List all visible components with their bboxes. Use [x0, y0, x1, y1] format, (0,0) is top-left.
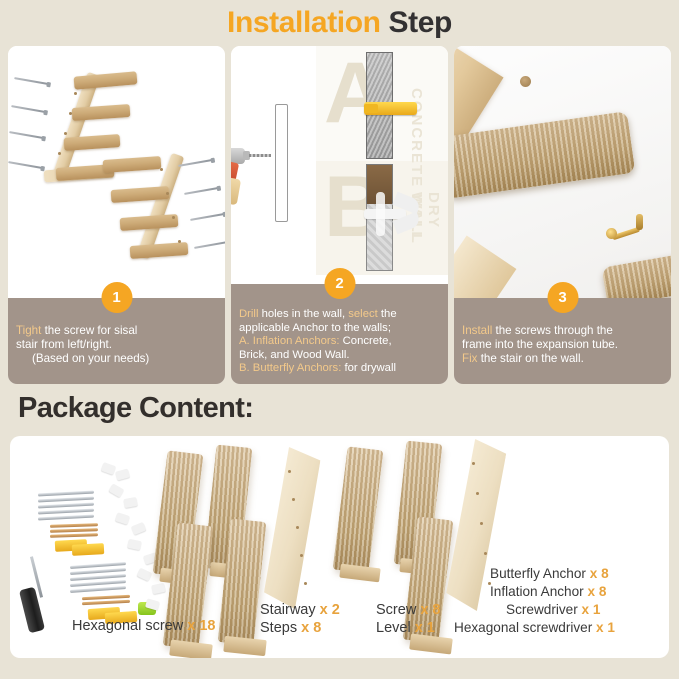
step-badge-1: 1	[101, 282, 132, 313]
step-1-highlight: Tight	[16, 324, 41, 337]
step-panel-2: A B CONCRETE WALL DRY WALL	[231, 46, 448, 384]
label-steps-qty: x 8	[301, 620, 321, 636]
label-level-name: Level	[376, 620, 411, 636]
label-butterfly-anchor: Butterfly Anchor x 8	[490, 566, 609, 581]
step-1-illustration	[8, 46, 225, 298]
step-2-l5-rest: for drywall	[341, 362, 396, 374]
label-level-qty: x 1	[415, 620, 435, 636]
label-level: Level x 1	[376, 620, 435, 636]
label-hexagonal-screwdriver: Hexagonal screwdriver x 1	[454, 620, 615, 635]
step-1-line2: stair from left/right.	[16, 338, 217, 352]
label-screwdriver-qty: x 1	[582, 602, 601, 617]
label-screw-qty: x 8	[420, 602, 440, 618]
step-1-caption: 1 Tight the screw for sisal stair from l…	[8, 298, 225, 384]
step-3-l3-rest: the stair on the wall.	[477, 352, 583, 365]
label-screwdriver-name: Screwdriver	[506, 602, 578, 617]
step-2-l3-rest: Concrete,	[339, 335, 391, 347]
title-part-installation: Installation	[227, 6, 381, 39]
label-inflation-anchor: Inflation Anchor x 8	[490, 584, 606, 599]
step-2-l1-mid: holes in the wall,	[258, 308, 348, 320]
step-2-hl-select: select	[348, 308, 378, 320]
label-inflation-anchor-name: Inflation Anchor	[490, 584, 584, 599]
label-hexagonal-screwdriver-name: Hexagonal screwdriver	[454, 620, 592, 635]
step-panel-1: 1 Tight the screw for sisal stair from l…	[8, 46, 225, 384]
label-stairway-name: Stairway	[260, 602, 316, 618]
package-content-title: Package Content:	[18, 392, 253, 425]
label-screwdriver: Screwdriver x 1	[506, 602, 600, 617]
step-badge-3: 3	[547, 282, 578, 313]
title-part-step: Step	[389, 6, 452, 39]
label-screw: Screw x 8	[376, 602, 441, 618]
step-3-illustration	[454, 46, 671, 298]
step-panel-3: 3 Install the screws through the frame i…	[454, 46, 671, 384]
label-butterfly-anchor-name: Butterfly Anchor	[490, 566, 586, 581]
label-steps-name: Steps	[260, 620, 297, 636]
step-2-hl-inflation: A. Inflation Anchors:	[239, 335, 339, 347]
step-2-hl-drill: Drill	[239, 308, 258, 320]
step-3-hl-fix: Fix	[462, 352, 477, 365]
label-hexagonal-screwdriver-qty: x 1	[596, 620, 615, 635]
step-2-illustration: A B CONCRETE WALL DRY WALL	[231, 46, 448, 284]
package-labels: Hexagonal screw x 18 Stairway x 2 Steps …	[10, 436, 669, 658]
label-hexagonal-screw-qty: x 18	[187, 618, 215, 634]
step-2-l2: applicable Anchor to the walls;	[239, 322, 440, 336]
page-title: Installation Step	[0, 4, 679, 42]
step-badge-2: 2	[324, 268, 355, 299]
step-2-l1-end: the	[378, 308, 397, 320]
label-steps: Steps x 8	[260, 620, 321, 636]
package-content-panel: Hexagonal screw x 18 Stairway x 2 Steps …	[10, 436, 669, 658]
label-hexagonal-screw: Hexagonal screw x 18	[72, 618, 216, 634]
infographic-page: Installation Step	[0, 0, 679, 679]
step-2-hl-butterfly: B. Butterfly Anchors:	[239, 362, 341, 374]
step-3-l2: frame into the expansion tube.	[462, 338, 663, 352]
label-hexagonal-screw-name: Hexagonal screw	[72, 618, 183, 634]
label-stairway-qty: x 2	[320, 602, 340, 618]
step-3-caption: 3 Install the screws through the frame i…	[454, 298, 671, 384]
step-1-line3: (Based on your needs)	[16, 352, 149, 366]
label-butterfly-anchor-qty: x 8	[590, 566, 609, 581]
step-3-hl-install: Install	[462, 324, 492, 337]
step-1-line1: the screw for sisal	[41, 324, 137, 337]
step-2-caption: 2 Drill holes in the wall, select the ap…	[231, 284, 448, 384]
label-screw-name: Screw	[376, 602, 416, 618]
label-stairway: Stairway x 2	[260, 602, 340, 618]
label-inflation-anchor-qty: x 8	[588, 584, 607, 599]
step-2-l4: Brick, and Wood Wall.	[239, 349, 440, 363]
step-3-l1-rest: the screws through the	[492, 324, 613, 337]
steps-row: 1 Tight the screw for sisal stair from l…	[8, 46, 671, 384]
